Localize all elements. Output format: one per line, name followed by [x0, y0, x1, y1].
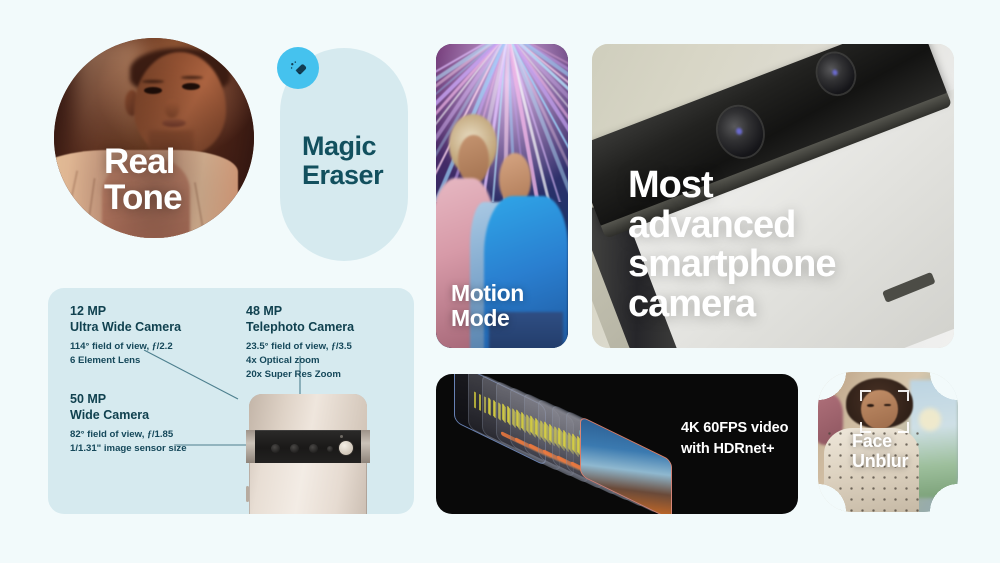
focus-bracket-icon: [860, 390, 871, 401]
real-tone-card[interactable]: Real Tone: [54, 38, 254, 238]
magic-eraser-icon[interactable]: [277, 47, 319, 89]
face-unblur-card[interactable]: Face Unblur: [818, 372, 958, 512]
real-tone-title: Real Tone: [104, 144, 182, 215]
spec-block-ultra-wide: 12 MP Ultra Wide Camera 114° field of vi…: [70, 304, 181, 368]
feature-collage: Real Tone Magic Eraser 12 MP Ultra Wide …: [0, 0, 1000, 563]
stacked-frames-graphic: [454, 384, 654, 504]
motion-mode-title: Motion Mode: [451, 281, 524, 330]
hdr-video-title: 4K 60FPS video with HDRnet+: [681, 418, 788, 460]
magic-eraser-title: Magic Eraser: [302, 132, 383, 190]
spec-block-telephoto: 48 MP Telephoto Camera 23.5° field of vi…: [246, 304, 354, 382]
pixel-phone-illustration: [249, 394, 367, 514]
most-advanced-camera-card[interactable]: Most advanced smartphone camera: [592, 44, 954, 348]
focus-bracket-icon: [898, 390, 909, 401]
motion-mode-card[interactable]: Motion Mode: [436, 44, 568, 348]
most-advanced-title: Most advanced smartphone camera: [628, 166, 835, 324]
camera-specs-panel: 12 MP Ultra Wide Camera 114° field of vi…: [48, 288, 414, 514]
face-unblur-title: Face Unblur: [852, 432, 908, 472]
spec-block-wide: 50 MP Wide Camera 82° field of view, ƒ/1…: [70, 392, 187, 456]
hdr-video-card[interactable]: 4K 60FPS video with HDRnet+: [436, 374, 798, 514]
